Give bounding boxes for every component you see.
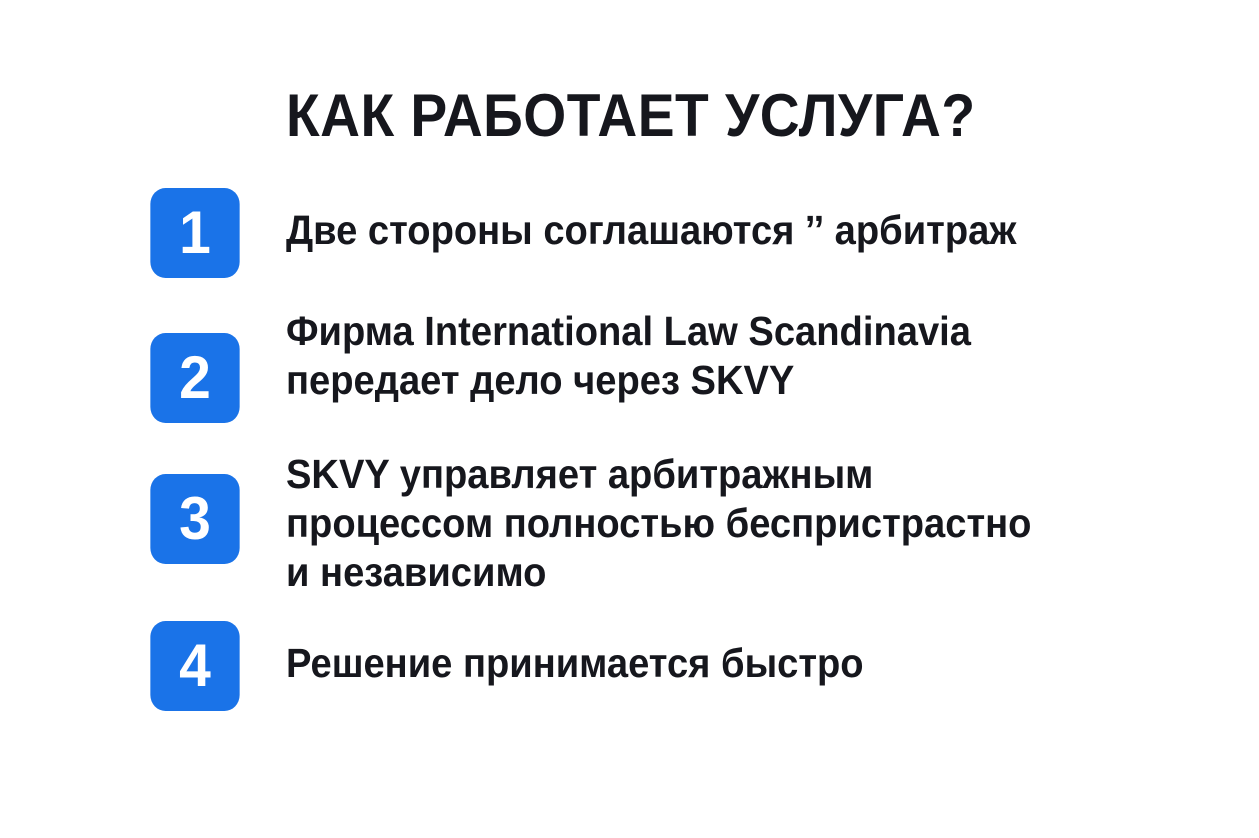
list-item-step-3: 3 SKVY управляет арбитражным процессом п… [148, 474, 1088, 598]
step-text-2: Фирма International Law Scandinavia пере… [286, 305, 971, 405]
step-text-4: Решение принимается быстро [286, 621, 864, 688]
step-number-badge-4: 4 [150, 621, 239, 711]
slide-canvas: КАК РАБОТАЕТ УСЛУГА? 1 Две стороны согла… [0, 0, 1259, 838]
step-number-badge-2: 2 [150, 333, 239, 423]
list-item-step-2: 2 Фирма International Law Scandinavia пе… [148, 333, 1023, 423]
step-text-3: SKVY управляет арбитражным процессом пол… [286, 448, 1031, 598]
page-title: КАК РАБОТАЕТ УСЛУГА? [286, 84, 975, 147]
list-item-step-4: 4 Решение принимается быстро [148, 621, 907, 711]
step-number-badge-1: 1 [150, 188, 239, 278]
list-item-step-1: 1 Две стороны соглашаются ˮ арбитраж [148, 188, 1071, 278]
step-text-1: Две стороны соглашаются ˮ арбитраж [286, 188, 1016, 255]
step-number-badge-3: 3 [150, 474, 239, 564]
